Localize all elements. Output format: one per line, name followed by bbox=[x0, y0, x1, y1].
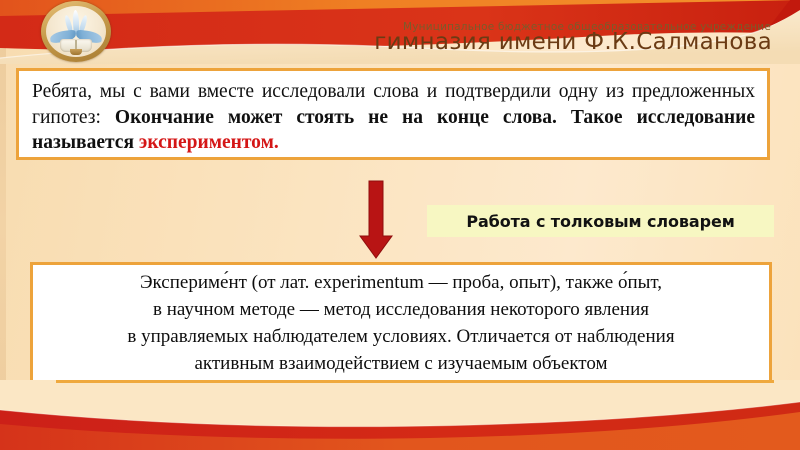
footer-wave-graphic bbox=[0, 380, 800, 450]
definition-line: в научном методе — метод исследования не… bbox=[153, 296, 649, 323]
statement-box: Ребята, мы с вами вместе исследовали сло… bbox=[16, 68, 770, 160]
definition-line: активным взаимодействием с изучаемым объ… bbox=[194, 350, 607, 377]
down-arrow-shape bbox=[359, 180, 393, 260]
slide-canvas: Муниципальное бюджетное общеобразователь… bbox=[0, 0, 800, 450]
statement-paragraph: Ребята, мы с вами вместе исследовали сло… bbox=[32, 79, 755, 156]
definition-box: Экспериме́нт (от лат. experimentum — про… bbox=[30, 262, 772, 384]
definition-line: в управляемых наблюдателем условиях. Отл… bbox=[127, 323, 674, 350]
slide-footer bbox=[0, 380, 800, 450]
definition-line: Экспериме́нт (от лат. experimentum — про… bbox=[140, 269, 662, 296]
school-title-text: гимназия имени Ф.К.Салманова bbox=[374, 29, 772, 55]
dictionary-work-label: Работа с толковым словарем bbox=[427, 205, 774, 237]
dictionary-work-label-text: Работа с толковым словарем bbox=[466, 212, 734, 231]
school-title: гимназия имени Ф.К.Салманова bbox=[0, 29, 800, 55]
slide-header: Муниципальное бюджетное общеобразователь… bbox=[0, 0, 800, 64]
down-arrow-icon bbox=[359, 180, 393, 260]
statement-highlight-text: экспериментом. bbox=[139, 132, 279, 153]
